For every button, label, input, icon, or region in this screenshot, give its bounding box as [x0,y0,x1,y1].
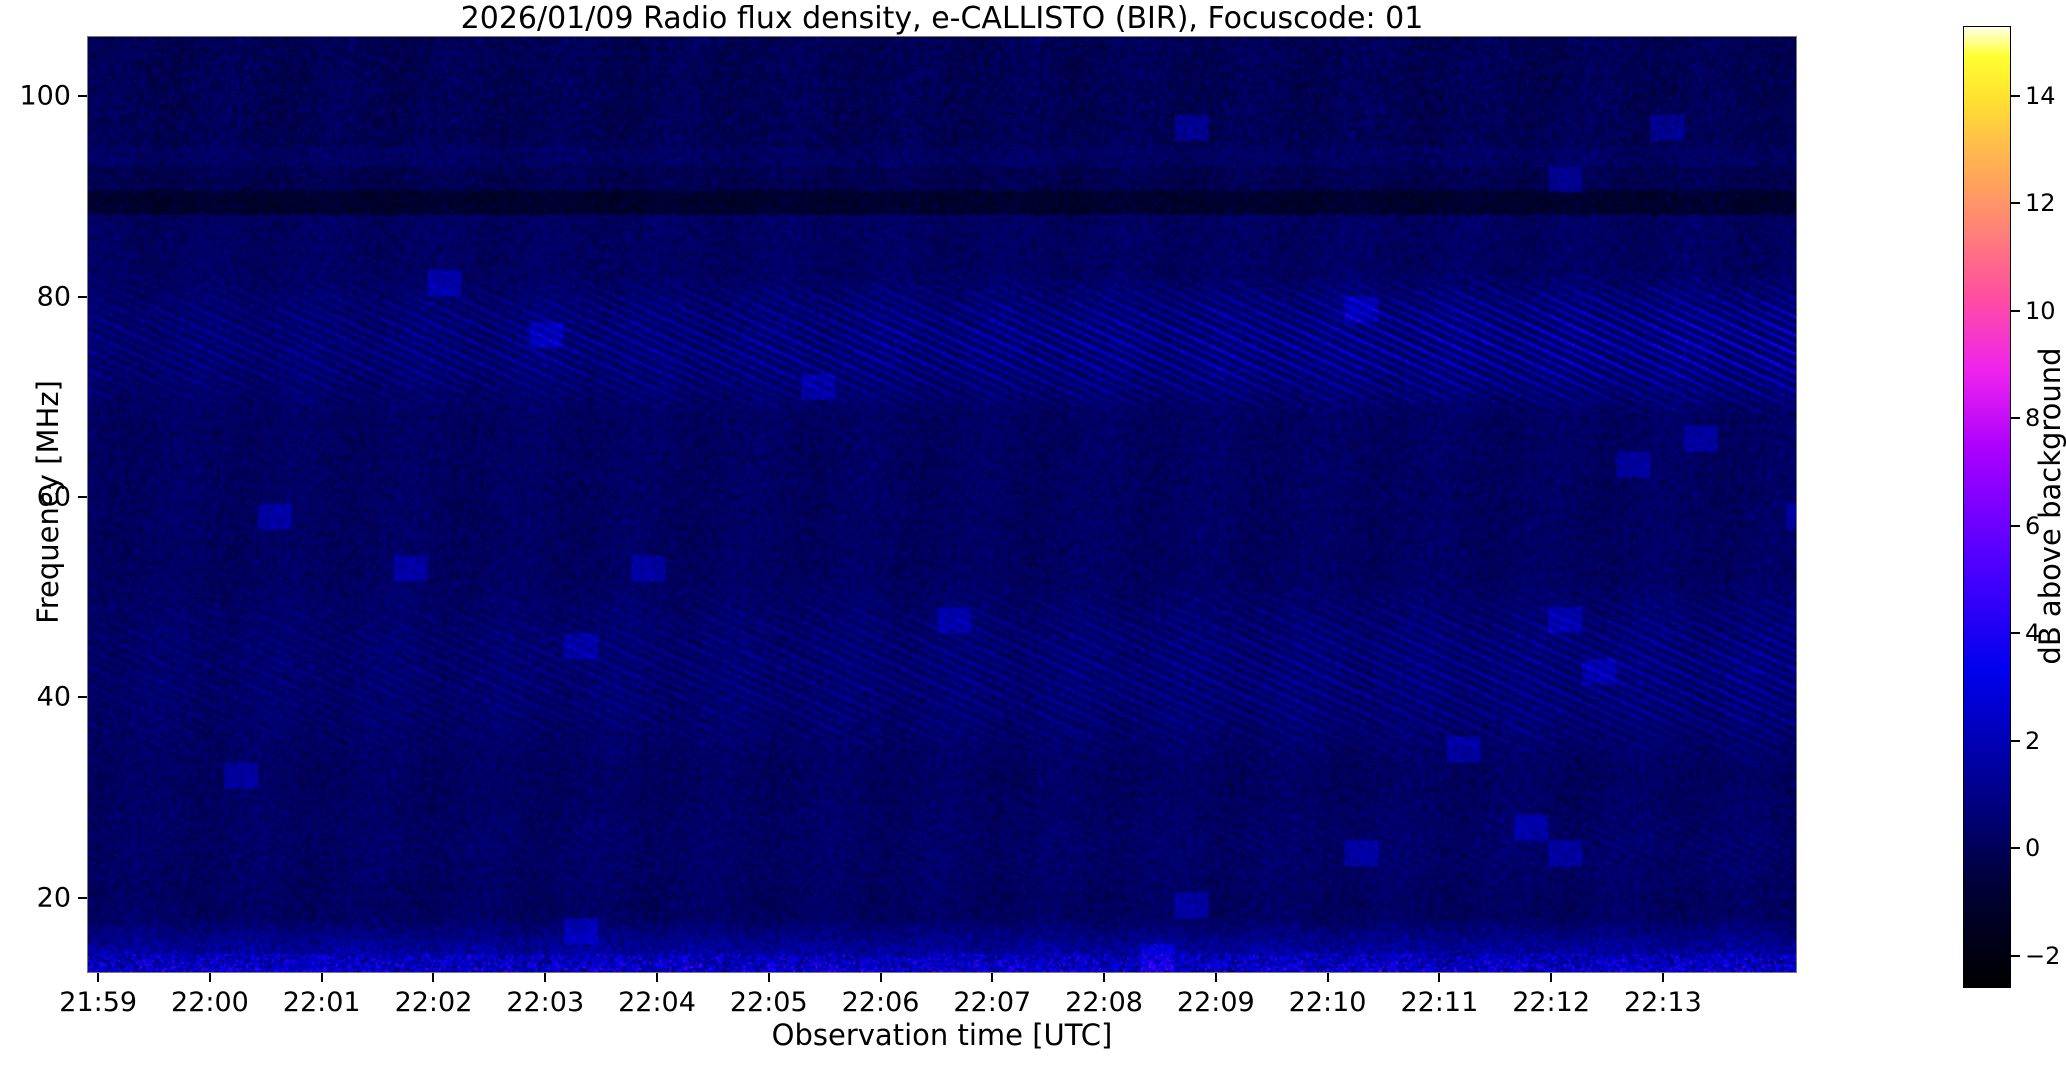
x-tick-label: 22:04 [618,989,696,1016]
colorbar-tick-mark [2011,417,2020,419]
x-tick-mark [1327,973,1329,982]
x-tick-mark [321,973,323,982]
y-tick-mark [78,296,87,298]
y-axis: 10080604020 [0,36,87,973]
colorbar-label-container: dB above background [2035,26,2065,988]
x-tick-label: 22:09 [1177,989,1255,1016]
y-tick-label: 80 [37,283,71,310]
x-tick-mark [209,973,211,982]
y-tick-mark [78,95,87,97]
colorbar [1963,26,2011,988]
colorbar-tick-mark [2011,310,2020,312]
x-tick-label: 22:01 [283,989,361,1016]
y-tick-label: 40 [37,684,71,711]
x-tick-mark [544,973,546,982]
x-tick-label: 22:03 [506,989,584,1016]
x-tick-label: 22:05 [730,989,808,1016]
colorbar-tick-mark [2011,740,2020,742]
x-tick-mark [656,973,658,982]
x-tick-label: 22:06 [842,989,920,1016]
colorbar-tick-mark [2011,847,2020,849]
y-tick-label: 60 [37,483,71,510]
figure-root: 2026/01/09 Radio flux density, e-CALLIST… [0,0,2066,1067]
page-title: 2026/01/09 Radio flux density, e-CALLIST… [87,2,1797,36]
colorbar-label: dB above background [2033,206,2066,806]
x-tick-label: 22:11 [1400,989,1478,1016]
spectrogram-image [88,37,1796,972]
x-tick-mark [880,973,882,982]
spectrogram-axes[interactable] [87,36,1797,973]
x-tick-mark [1103,973,1105,982]
x-tick-label: 22:02 [395,989,473,1016]
x-axis-label: Observation time [UTC] [87,1018,1797,1052]
colorbar-tick-mark [2011,95,2020,97]
y-tick-mark [78,496,87,498]
colorbar-tick-mark [2011,632,2020,634]
colorbar-tick-mark [2011,525,2020,527]
x-tick-mark [1550,973,1552,982]
x-tick-label: 22:00 [171,989,249,1016]
x-tick-mark [768,973,770,982]
y-tick-mark [78,897,87,899]
x-tick-label: 22:07 [953,989,1031,1016]
y-tick-mark [78,696,87,698]
colorbar-gradient [1964,27,2010,987]
y-tick-label: 100 [19,83,71,110]
x-tick-label: 22:08 [1065,989,1143,1016]
x-tick-label: 22:13 [1624,989,1702,1016]
colorbar-tick-mark [2011,202,2020,204]
x-tick-mark [97,973,99,982]
x-tick-label: 22:12 [1512,989,1590,1016]
x-tick-mark [432,973,434,982]
x-tick-mark [991,973,993,982]
y-tick-label: 20 [37,884,71,911]
x-tick-label: 22:10 [1289,989,1367,1016]
x-tick-mark [1438,973,1440,982]
x-tick-mark [1215,973,1217,982]
spectrogram-canvas [88,37,1796,972]
x-tick-mark [1662,973,1664,982]
x-tick-label: 21:59 [59,989,137,1016]
colorbar-tick-mark [2011,955,2020,957]
